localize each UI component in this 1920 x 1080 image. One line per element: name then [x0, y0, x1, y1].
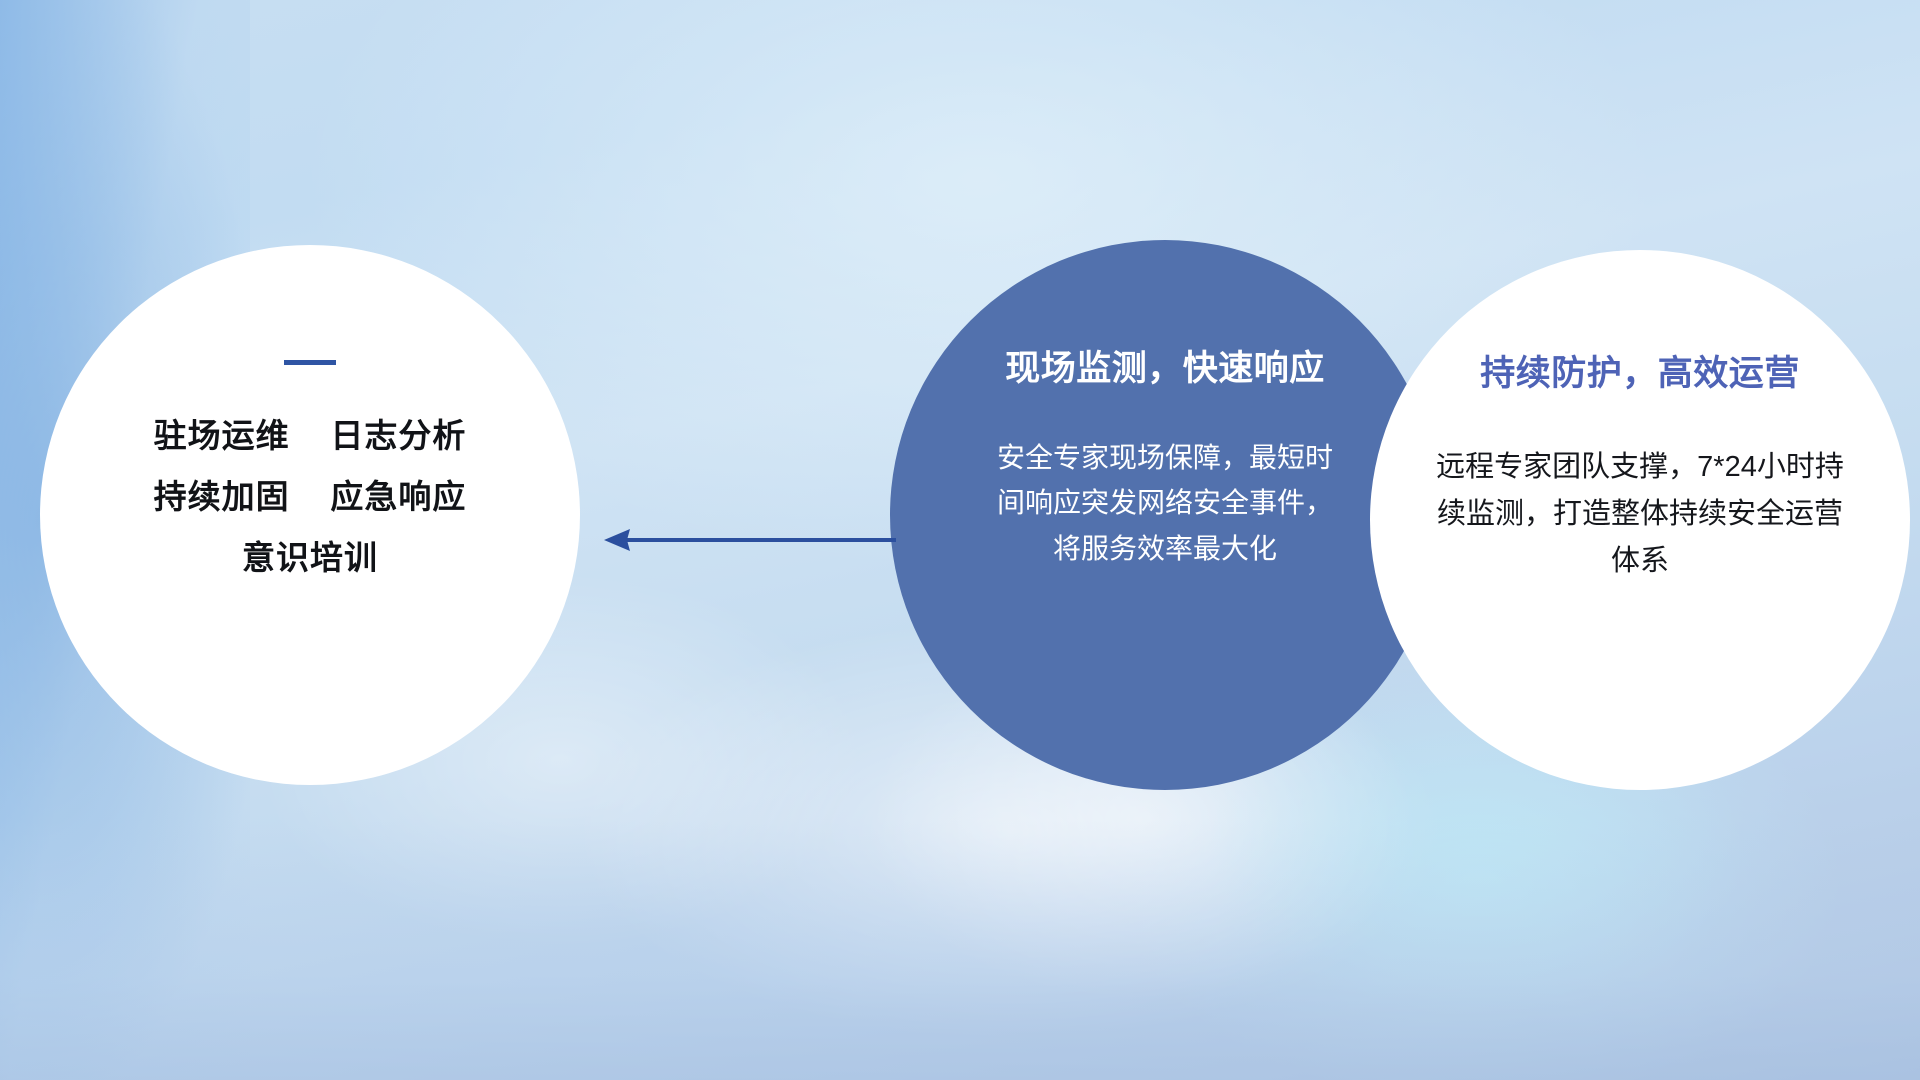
node-right-continuous[interactable]: 持续防护，高效运营 远程专家团队支撑，7*24小时持续监测，打造整体持续安全运营… [1370, 250, 1910, 790]
node-title: 现场监测，快速响应 [1005, 340, 1325, 391]
node-middle-onsite[interactable]: 现场监测，快速响应 安全专家现场保障，最短时间响应突发网络安全事件，将服务效率最… [890, 240, 1440, 790]
capability-list: 驻场运维 日志分析 持续加固 应急响应 意识培训 [154, 405, 467, 588]
slide-canvas: 驻场运维 日志分析 持续加固 应急响应 意识培训 现场监测，快速响应 安全专家现… [0, 0, 1920, 1080]
background-bottom-wash [0, 820, 1920, 1080]
node-body-text: 远程专家团队支撑，7*24小时持续监测，打造整体持续安全运营体系 [1430, 444, 1850, 585]
node-left-capabilities[interactable]: 驻场运维 日志分析 持续加固 应急响应 意识培训 [40, 245, 580, 785]
capability-row: 持续加固 应急响应 [154, 466, 467, 527]
capability-row: 驻场运维 日志分析 [154, 405, 467, 466]
node-body-text: 安全专家现场保障，最短时间响应突发网络安全事件，将服务效率最大化 [995, 435, 1335, 571]
node-title: 持续防护，高效运营 [1480, 345, 1800, 396]
divider-dash-icon [284, 360, 336, 365]
left-arrow-icon [600, 520, 900, 560]
capability-row: 意识培训 [154, 527, 467, 588]
